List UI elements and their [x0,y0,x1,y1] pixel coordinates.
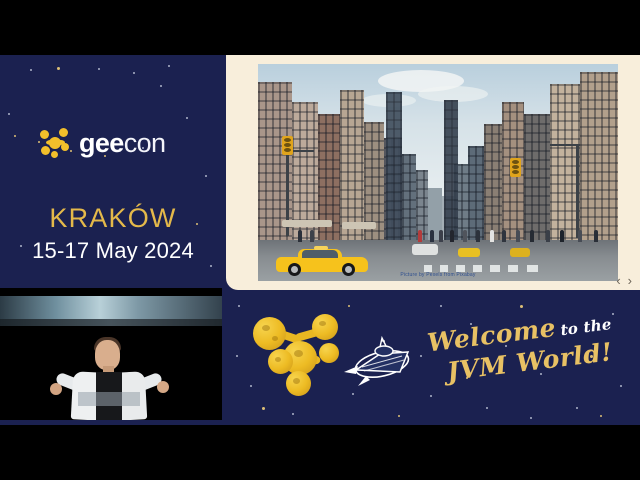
traffic-light [510,158,521,177]
star-dot [576,407,578,409]
white-van [412,244,438,255]
chevron-left-icon[interactable]: ‹ [616,274,620,287]
logo-text-bold: gee [79,128,124,158]
geecon-logo: geecon [40,128,165,158]
traffic-light [282,136,293,155]
storefront-awning [282,220,332,227]
speaker-right-hand [157,381,169,393]
star-dot [292,413,294,415]
city-street-photo: Picture by Pexels from Pixabay [258,64,618,281]
star-dot [440,305,442,307]
star-dot [250,385,252,387]
storefront-awning [342,222,376,229]
star-dot [430,395,432,397]
geecon-wordmark: geecon [79,130,165,157]
speaker-light-shade [78,392,140,406]
tagline-to-the: to the [560,315,613,339]
conference-dates: 15-17 May 2024 [0,238,226,264]
star-dot [520,305,523,308]
lamp-arm [550,144,580,146]
star-dot [612,313,614,315]
star-dot [236,355,238,357]
star-dot [620,385,622,387]
star-dot [530,417,532,419]
speaker-left-hand [50,383,62,395]
star-dot [600,415,602,417]
star-dot [262,407,265,410]
distant-taxi [510,248,530,257]
geecon-molecule-logo-icon [40,128,70,158]
photo-carousel-nav[interactable]: ‹ › [616,274,632,287]
star-dot [238,305,240,307]
star-dot [398,415,400,417]
photo-panel: Picture by Pexels from Pixabay ‹ › [226,55,640,290]
chevron-right-icon[interactable]: › [628,274,632,287]
lamp-pole [576,144,579,238]
white-rocket-ship-icon [340,332,418,390]
speaker-camera-feed[interactable] [0,288,222,420]
welcome-tagline: Welcome to the JVM World! [426,308,604,408]
screen-recording-frame: geecon KRAKÓW 15-17 May 2024 [0,0,640,480]
conference-city: KRAKÓW [0,203,226,234]
logo-text-light: con [124,128,166,158]
stage-backdrop-screen [0,296,222,320]
photo-credit: Picture by Pexels from Pixabay [258,272,618,278]
star-dot [420,355,422,357]
star-dot [486,407,488,409]
distant-taxi [458,248,480,257]
